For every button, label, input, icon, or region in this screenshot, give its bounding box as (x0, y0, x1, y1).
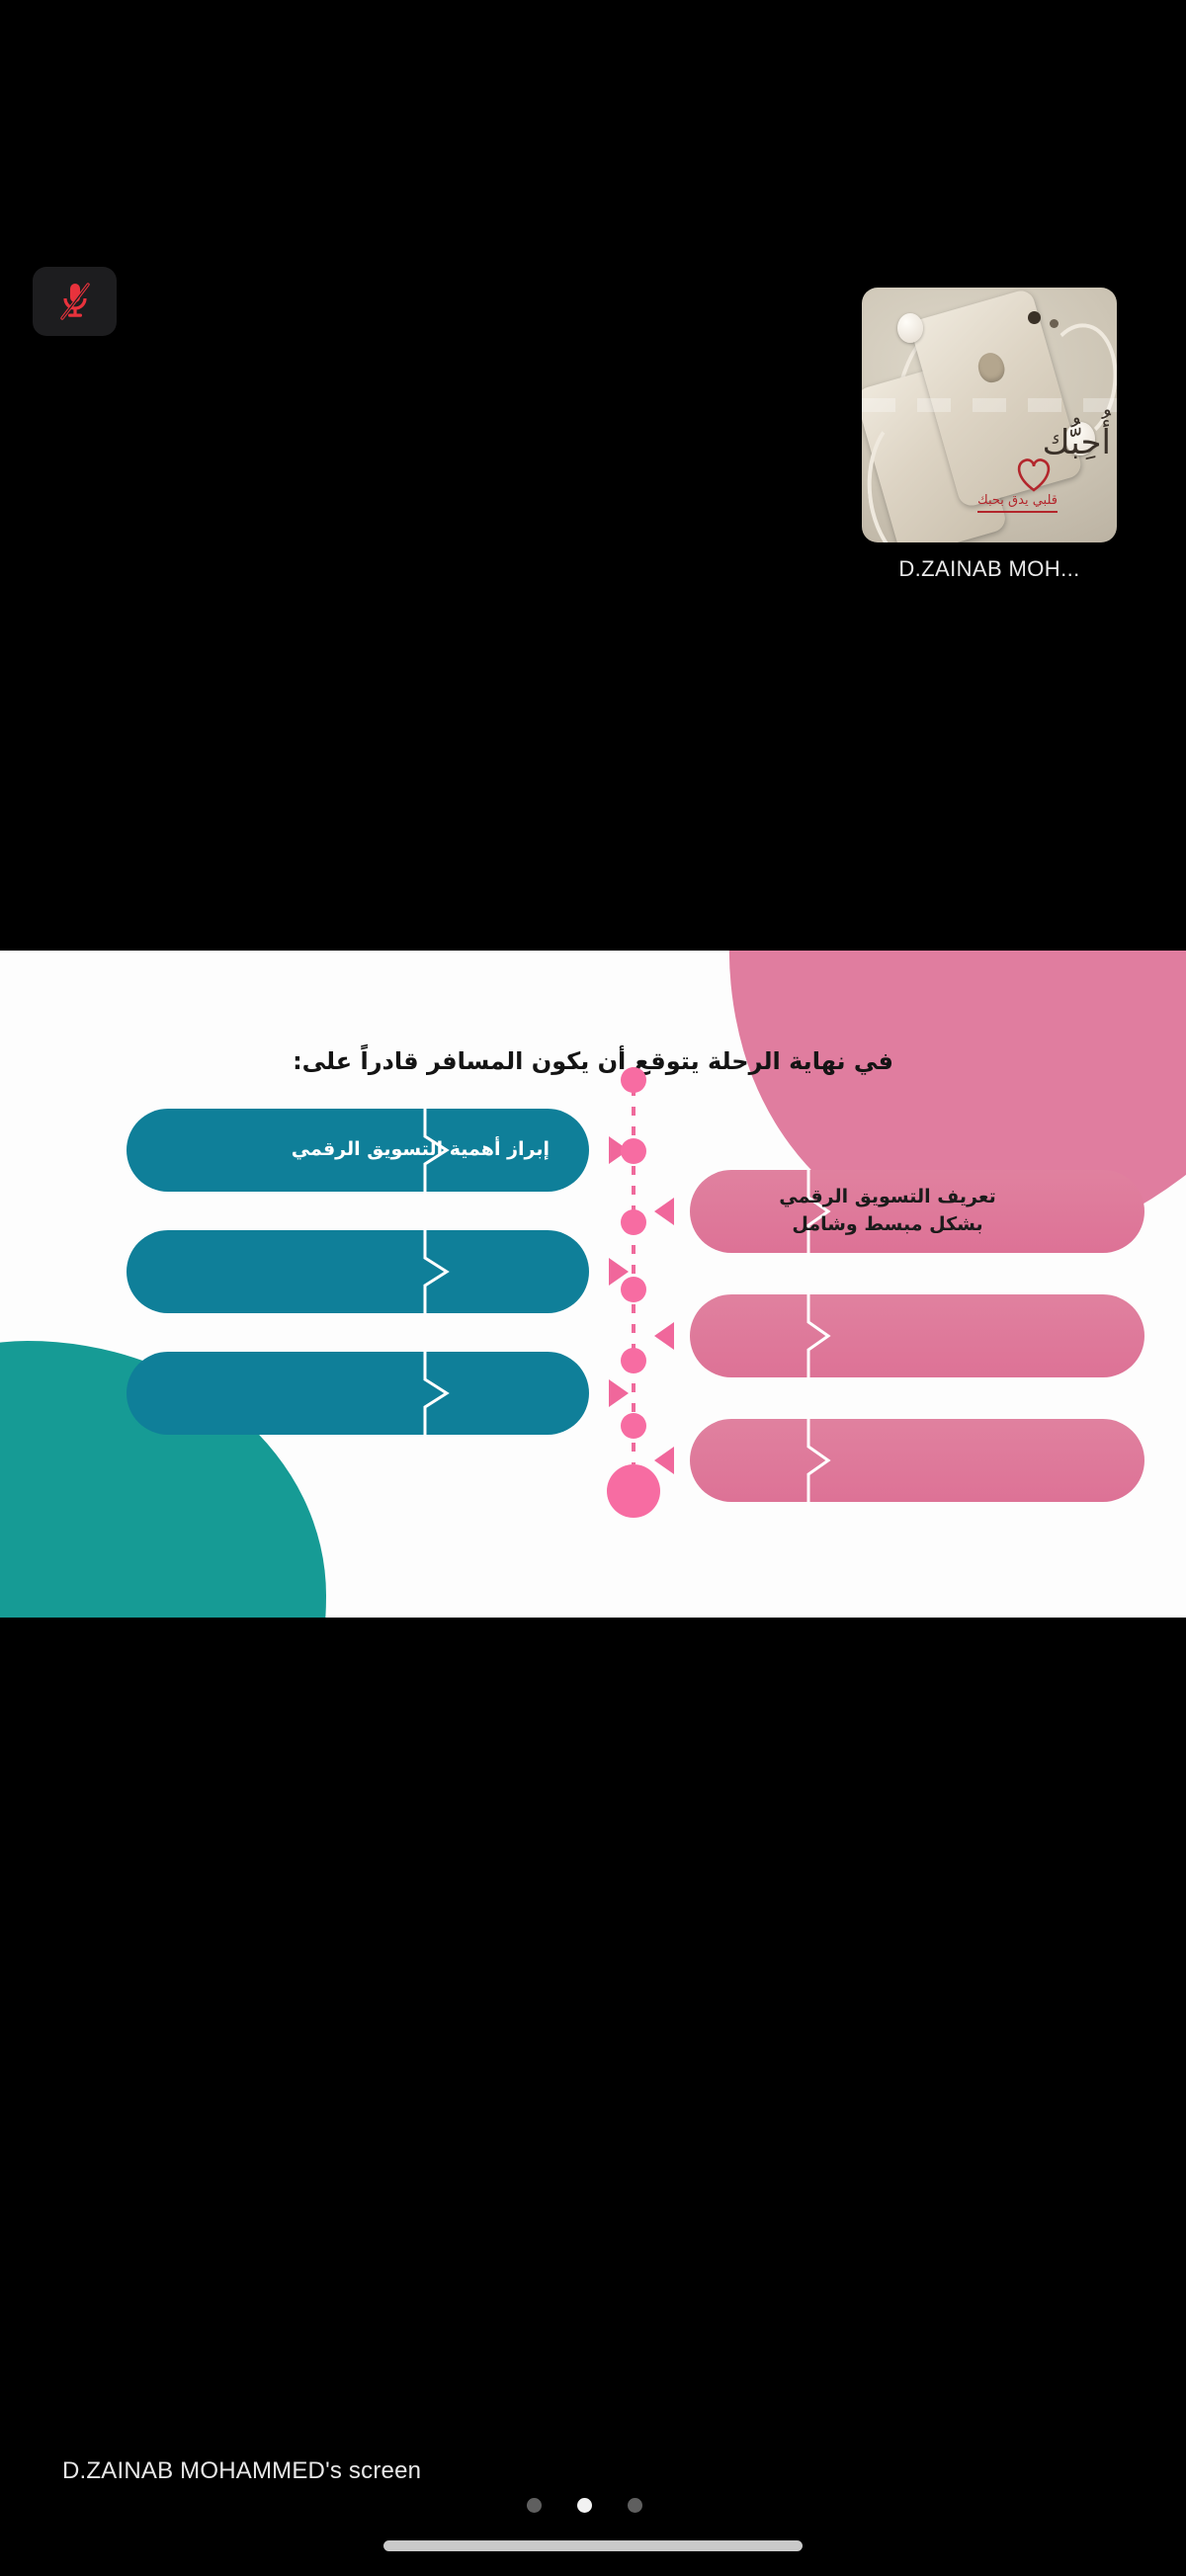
objective-text: إبراز أهمية التسويق الرقمي (292, 1136, 589, 1164)
earbud-icon (897, 313, 923, 343)
camera-flash-icon (1050, 319, 1059, 328)
home-indicator[interactable] (383, 2540, 803, 2551)
participant-tile[interactable]: أُحِبُّك قلبي يدق بحبك D.ZAINAB MOH... (862, 288, 1117, 542)
objective-text-line1: تعريف التسويق الرقمي (779, 1186, 995, 1207)
screen-share-label: D.ZAINAB MOHAMMED's screen (62, 2457, 421, 2485)
objective-text (690, 1322, 1144, 1350)
chip-notch (405, 1230, 465, 1313)
slide-heading: في نهاية الرحلة يتوقع أن يكون المسافر قا… (0, 1047, 1186, 1075)
objective-row-teal: إبراز أهمية التسويق الرقمي (127, 1109, 589, 1192)
avatar-caption-text: قلبي يدق بحبك (977, 493, 1058, 513)
camera-lens-icon (1028, 311, 1041, 324)
objective-row-pink (690, 1419, 1144, 1502)
timeline-dashed-line (632, 1067, 635, 1464)
arrow-left-icon (654, 1447, 674, 1474)
page-dot-2[interactable] (577, 2498, 592, 2513)
heart-icon (1012, 454, 1056, 493)
timeline-dot (621, 1413, 646, 1439)
objective-chip-teal-1: إبراز أهمية التسويق الرقمي (127, 1109, 589, 1192)
objective-text-line2: بشكل مبسط وشامل (792, 1213, 982, 1235)
objective-chip-pink-3 (690, 1419, 1144, 1502)
watermark-strip (862, 398, 1117, 412)
arrow-left-icon (654, 1198, 674, 1225)
page-indicator[interactable] (527, 2498, 642, 2513)
arrow-right-icon (609, 1379, 629, 1407)
objective-chip-teal-3 (127, 1352, 589, 1435)
timeline-dot (621, 1209, 646, 1235)
objective-chip-teal-2 (127, 1230, 589, 1313)
meeting-screen: أُحِبُّك قلبي يدق بحبك D.ZAINAB MOH... ف… (0, 0, 1186, 2576)
mute-status-badge[interactable] (33, 267, 117, 336)
timeline-dot (621, 1067, 646, 1093)
shared-screen-slide[interactable]: في نهاية الرحلة يتوقع أن يكون المسافر قا… (0, 951, 1186, 1618)
timeline-end-dot (607, 1464, 660, 1518)
participant-name-label: D.ZAINAB MOH... (862, 556, 1117, 582)
objective-chip-pink-2 (690, 1294, 1144, 1377)
timeline-dot (621, 1277, 646, 1302)
participant-avatar: أُحِبُّك قلبي يدق بحبك (862, 288, 1117, 542)
timeline-dot (621, 1348, 646, 1373)
microphone-muted-icon (59, 282, 91, 321)
objective-row-teal (127, 1352, 589, 1435)
arrow-left-icon (654, 1322, 674, 1350)
objective-row-teal (127, 1230, 589, 1313)
objective-chip-pink-1: تعريف التسويق الرقمي بشكل مبسط وشامل (690, 1170, 1144, 1253)
timeline-dot (621, 1138, 646, 1164)
page-dot-3[interactable] (628, 2498, 642, 2513)
objective-text (690, 1447, 1144, 1474)
objective-text: تعريف التسويق الرقمي بشكل مبسط وشامل (690, 1184, 1144, 1238)
decor-blob-pink (649, 951, 1186, 1309)
chip-notch (405, 1352, 465, 1435)
objective-row-pink: تعريف التسويق الرقمي بشكل مبسط وشامل (690, 1170, 1144, 1253)
objective-row-pink (690, 1294, 1144, 1377)
page-dot-1[interactable] (527, 2498, 542, 2513)
